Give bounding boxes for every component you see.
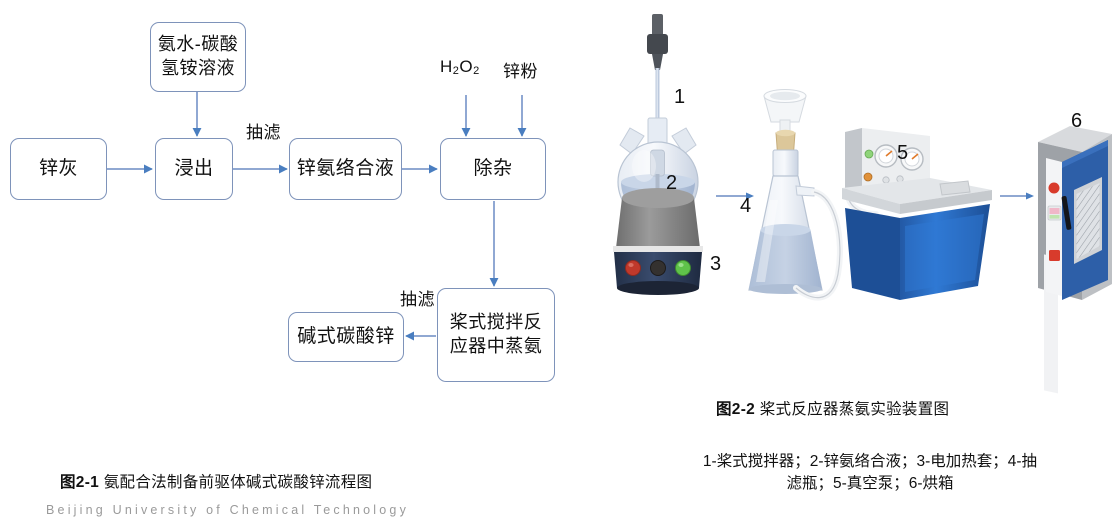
electric-heating-mantle	[613, 188, 703, 295]
edge-label-filtration-top: 抽滤	[246, 118, 281, 143]
figure2-legend-line2: 滤瓶；5-真空泵；6-烘箱	[635, 473, 1105, 495]
node-zinc-ash[interactable]: 锌灰	[10, 138, 107, 200]
callout-6: 6	[1071, 110, 1082, 133]
node-zinc-ammine-solution[interactable]: 锌氨络合液	[289, 138, 402, 200]
callout-5: 5	[897, 142, 908, 165]
node-ammonia-solution[interactable]: 氨水-碳酸 氢铵溶液	[150, 22, 246, 92]
watermark-university: Beijing University of Chemical Technolog…	[46, 503, 409, 517]
callout-2: 2	[666, 172, 677, 195]
h2o2-h: H	[440, 57, 453, 76]
reagent-label-hydrogen-peroxide: H2O2	[440, 57, 480, 77]
callout-3: 3	[710, 253, 721, 276]
buchner-funnel	[764, 90, 806, 133]
node-ammonia-solution-label-line1: 氨水-碳酸	[158, 33, 239, 57]
figure2-legend: 1-桨式搅拌器；2-锌氨络合液；3-电加热套；4-抽 滤瓶；5-真空泵；6-烘箱	[635, 451, 1105, 496]
figure2-caption-text: 桨式反应器蒸氨实验装置图	[760, 401, 950, 418]
h2o2-sub2: 2	[473, 65, 480, 77]
figure1-caption: 图2-1 氨配合法制备前驱体碱式碳酸锌流程图	[60, 470, 372, 492]
callout-4: 4	[740, 195, 751, 218]
node-leaching-label: 浸出	[174, 158, 213, 180]
flow-arrow-pump-to-oven	[1000, 193, 1034, 200]
figure-canvas: 锌灰 氨水-碳酸 氢铵溶液 浸出 锌氨络合液 除杂 桨式搅拌反 应器中蒸氨 碱式…	[0, 0, 1115, 523]
node-ammonia-solution-label-line2: 氢铵溶液	[161, 57, 235, 81]
reagent-label-zinc-powder: 锌粉	[503, 57, 538, 82]
edge-label-filtration-bottom: 抽滤	[400, 285, 435, 310]
node-basic-zinc-carbonate[interactable]: 碱式碳酸锌	[288, 312, 404, 362]
vacuum-pump	[842, 128, 992, 300]
apparatus-illustration: 1 2 3 4 5 6	[600, 0, 1115, 400]
figure2-legend-line1: 1-桨式搅拌器；2-锌氨络合液；3-电加热套；4-抽	[635, 451, 1105, 473]
callout-1: 1	[674, 86, 685, 109]
apparatus-svg	[600, 0, 1115, 400]
node-impurity-removal-label: 除杂	[473, 158, 512, 180]
figure2-caption-number: 图2-2	[716, 401, 755, 418]
node-zinc-ash-label: 锌灰	[39, 158, 78, 180]
node-zinc-ammine-solution-label: 锌氨络合液	[297, 158, 395, 180]
process-flowchart: 锌灰 氨水-碳酸 氢铵溶液 浸出 锌氨络合液 除杂 桨式搅拌反 应器中蒸氨 碱式…	[0, 0, 600, 523]
figure1-caption-text: 氨配合法制备前驱体碱式碳酸锌流程图	[104, 474, 373, 491]
node-basic-zinc-carbonate-label: 碱式碳酸锌	[297, 326, 395, 348]
node-reactor-label-line1: 桨式搅拌反	[450, 311, 543, 335]
node-reactor-label-line2: 应器中蒸氨	[450, 335, 543, 359]
node-leaching[interactable]: 浸出	[155, 138, 233, 200]
figure2-caption: 图2-2 桨式反应器蒸氨实验装置图	[716, 397, 949, 419]
h2o2-o: O	[459, 57, 473, 76]
figure1-caption-number: 图2-1	[60, 474, 99, 491]
filtering-flask	[749, 130, 822, 294]
drying-oven	[1038, 126, 1112, 393]
node-paddle-reactor-ammonia-distillation[interactable]: 桨式搅拌反 应器中蒸氨	[437, 288, 555, 382]
node-impurity-removal[interactable]: 除杂	[440, 138, 546, 200]
